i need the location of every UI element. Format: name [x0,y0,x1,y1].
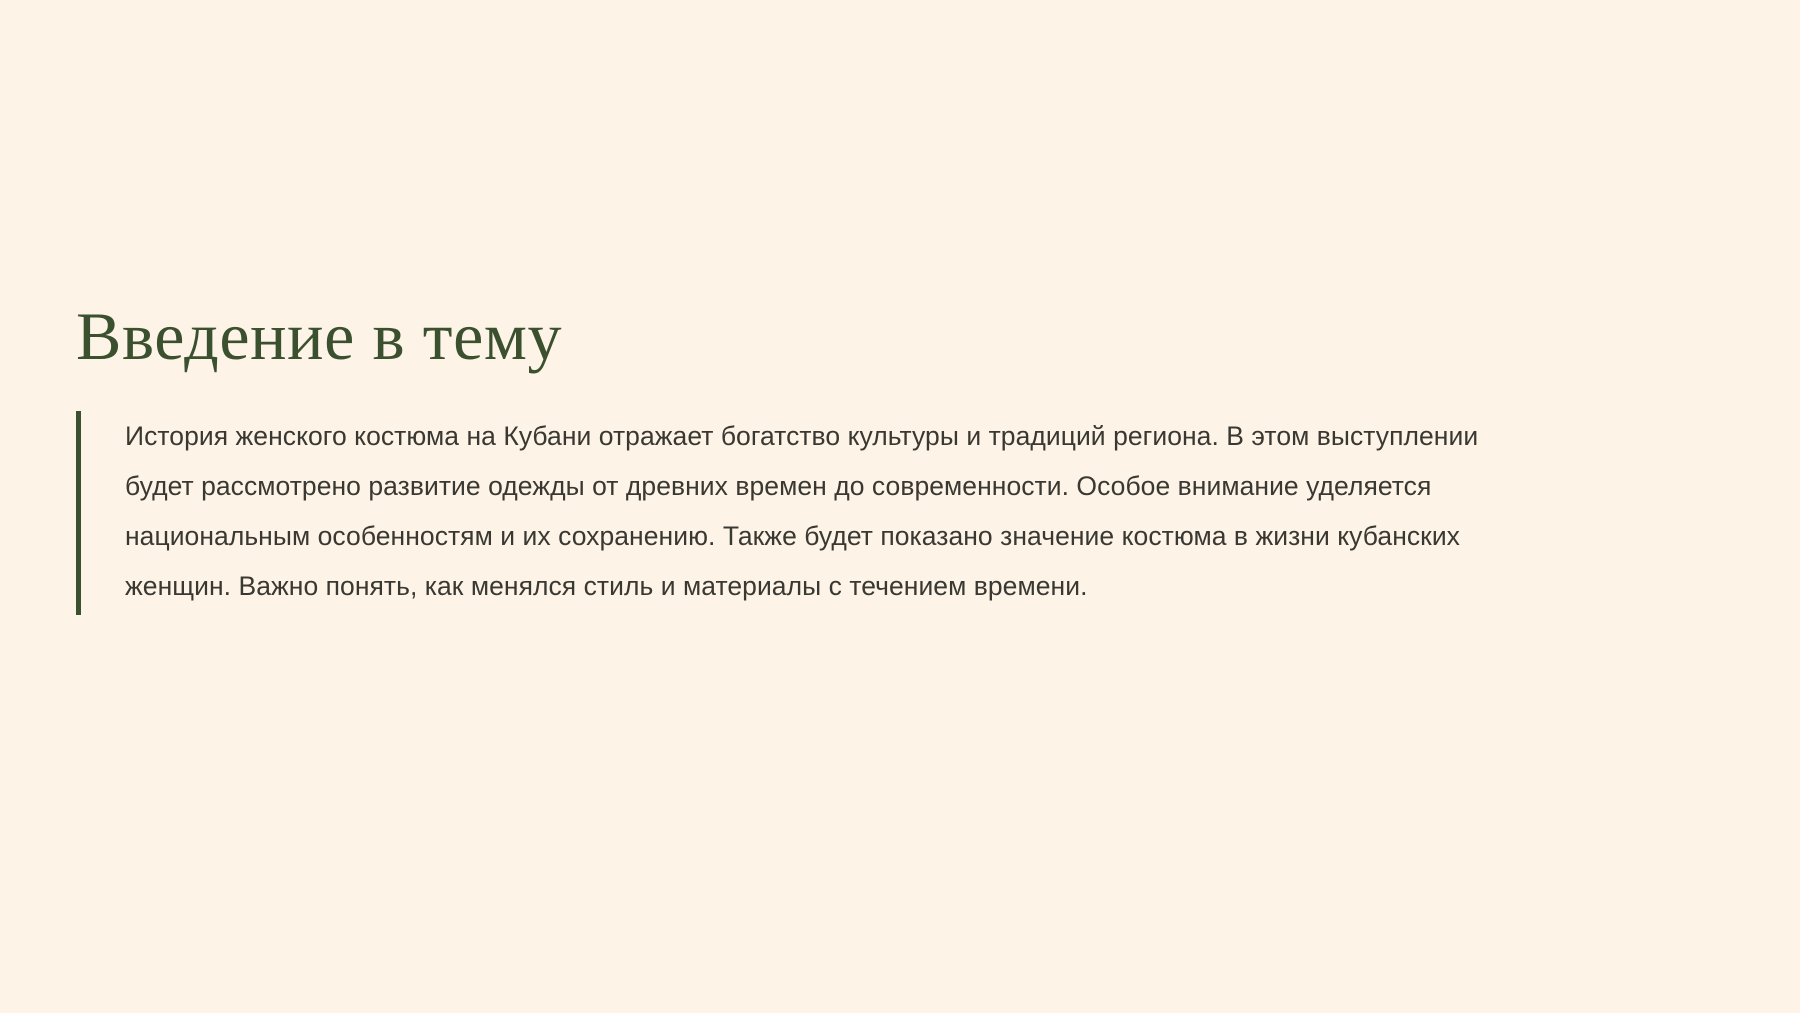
accent-bar-decoration [76,411,81,615]
presentation-slide: Введение в тему История женского костюма… [0,0,1800,1013]
slide-body-paragraph: История женского костюма на Кубани отраж… [125,411,1545,611]
slide-title: Введение в тему [76,300,1736,373]
body-quote-block: История женского костюма на Кубани отраж… [76,411,1736,611]
slide-content-area: Введение в тему История женского костюма… [76,300,1736,611]
